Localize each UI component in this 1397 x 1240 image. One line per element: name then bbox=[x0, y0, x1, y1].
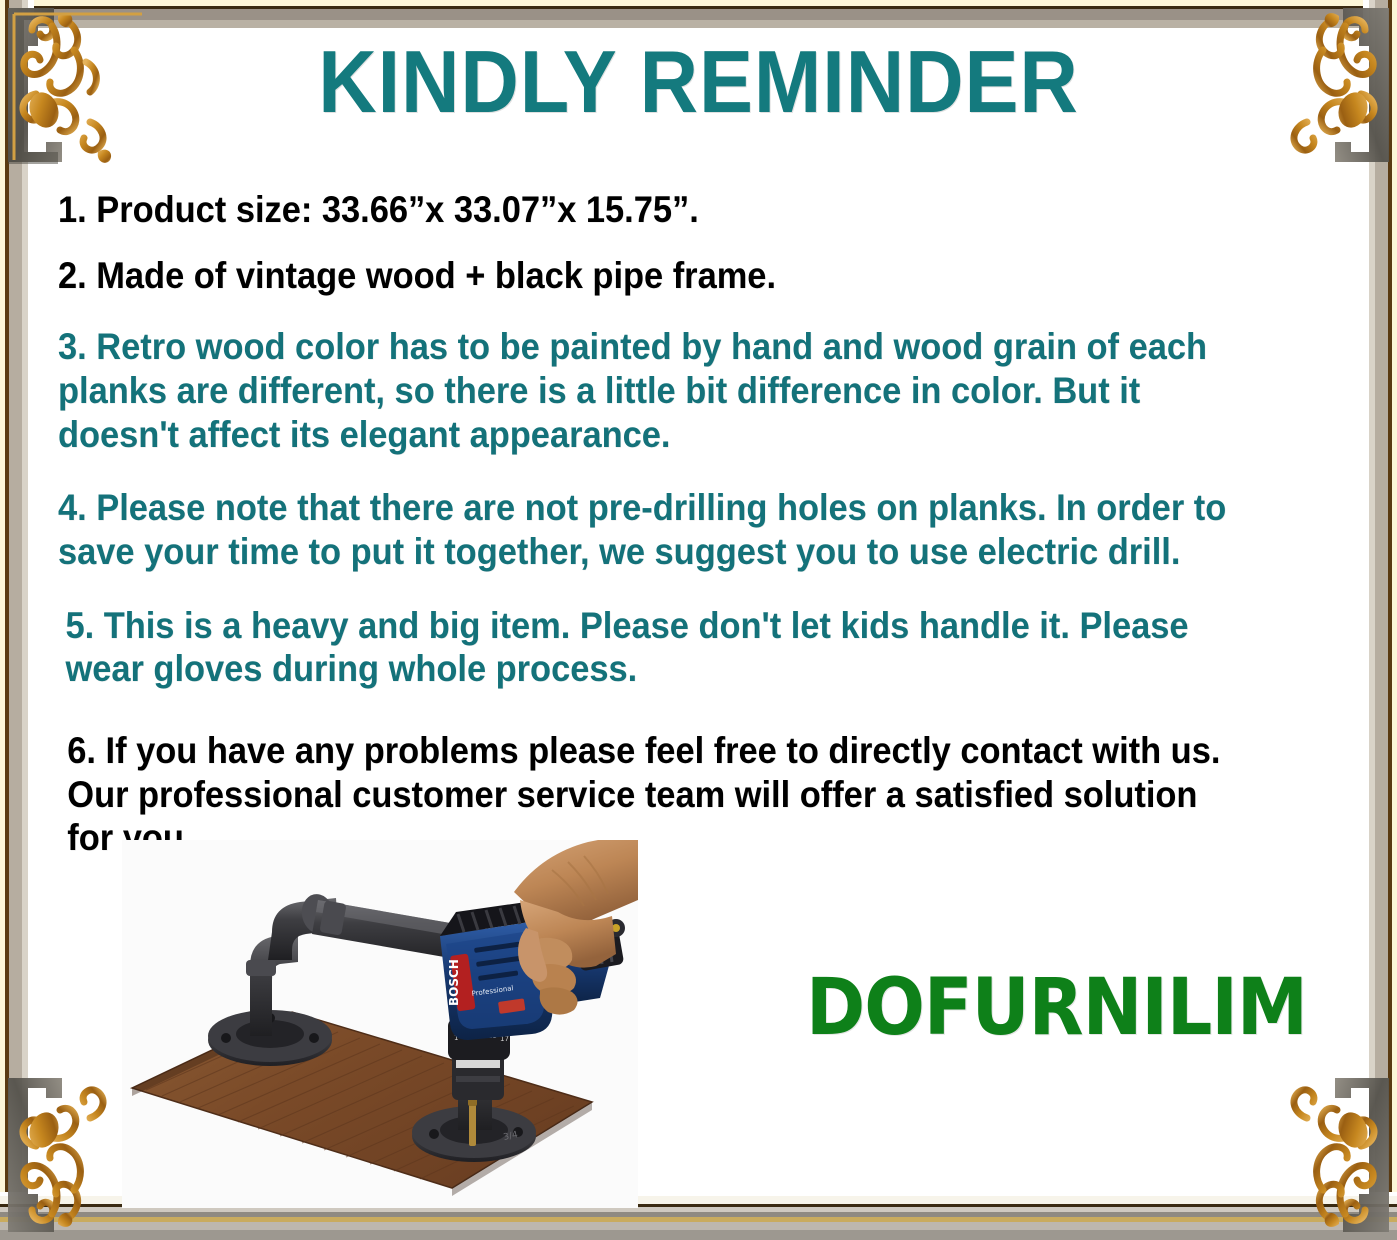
list-item: 5. This is a heavy and big item. Please … bbox=[58, 604, 1250, 691]
list-item: 1. Product size: 33.66”x 33.07”x 15.75”. bbox=[58, 188, 1250, 232]
reminder-list: 1. Product size: 33.66”x 33.07”x 15.75”.… bbox=[58, 188, 1340, 860]
svg-text:BOSCH: BOSCH bbox=[447, 959, 461, 1006]
frame-left-border bbox=[0, 0, 34, 1240]
page-title: KINDLY REMINDER bbox=[56, 38, 1341, 126]
frame-right-border bbox=[1363, 0, 1397, 1240]
list-item: 2. Made of vintage wood + black pipe fra… bbox=[58, 254, 1250, 298]
brand-logo: DOFURNILIM bbox=[806, 968, 1307, 1046]
list-item: 4. Please note that there are not pre-dr… bbox=[58, 486, 1250, 573]
kindly-reminder-poster: KINDLY REMINDER 1. Product size: 33.66”x… bbox=[0, 0, 1397, 1240]
list-item: 3. Retro wood color has to be painted by… bbox=[58, 325, 1250, 456]
assembly-photo: 3/4 15 91317 bbox=[122, 840, 638, 1208]
